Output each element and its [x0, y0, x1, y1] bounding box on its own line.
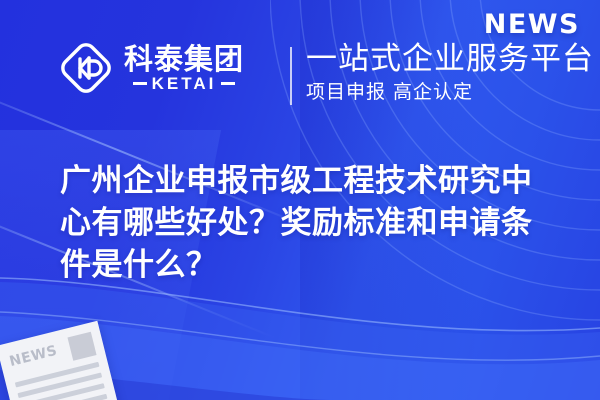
news-banner: 科泰集团 KETAI 一站式企业服务平台 项目申报 高企认定 NEWS 广州企业…	[0, 0, 600, 400]
logo-dash-left	[133, 82, 147, 85]
image-placeholder-icon	[67, 332, 96, 361]
brand-logo-text: 科泰集团 KETAI	[124, 44, 244, 92]
article-title: 广州企业申报市级工程技术研究中心有哪些好处？奖励标准和申请条件是什么？	[60, 160, 560, 286]
brand-name-cn: 科泰集团	[124, 44, 244, 74]
logo-dash-right	[221, 82, 235, 85]
news-wordmark: NEWS	[484, 9, 580, 40]
slogan-secondary: 项目申报 高企认定	[306, 81, 594, 104]
slogan-primary: 一站式企业服务平台	[306, 42, 594, 78]
brand-logo[interactable]: 科泰集团 KETAI	[58, 40, 244, 96]
brand-name-en: KETAI	[152, 75, 217, 92]
brand-name-en-row: KETAI	[124, 75, 244, 92]
ketai-diamond-kt-logo-icon	[58, 40, 114, 96]
header-slogan: 一站式企业服务平台 项目申报 高企认定	[306, 42, 594, 103]
banner-header: 科泰集团 KETAI 一站式企业服务平台 项目申报 高企认定 NEWS	[0, 0, 600, 140]
newspaper-masthead: NEWS	[7, 341, 58, 369]
header-divider	[290, 47, 292, 105]
